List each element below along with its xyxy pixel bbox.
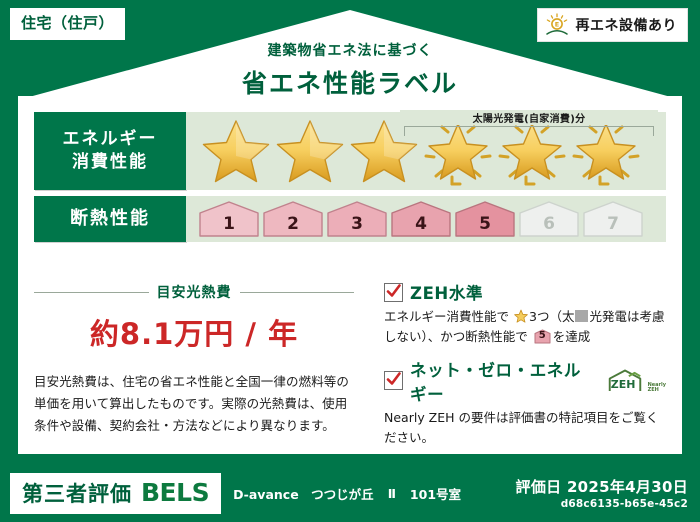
metrics-section: エネルギー 消費性能 xyxy=(34,112,666,248)
zeh-standard-body: エネルギー消費性能で 3つ（太光発電は考慮しない）、かつ断熱性能で 5 を達成 xyxy=(384,307,666,348)
evaluation-info: 評価日 2025年4月30日 d68c6135-b65e-45c2 xyxy=(516,476,688,510)
energy-performance-label: 住宅（住戸） E 再エネ設備あり 建築物省エネ法に基づく 省エネ性能ラベル xyxy=(0,0,700,522)
net-zero-energy-header: ネット・ゼロ・エネルギー ZEH Nearly ZEH xyxy=(384,357,666,405)
star-solar-icon xyxy=(496,116,568,186)
renewable-equipment-badge: E 再エネ設備あり xyxy=(537,8,689,42)
footer-bar: 第三者評価 BELS D-avance つつじが丘 Ⅱ 101号室 評価日 20… xyxy=(0,464,700,522)
checkbox-checked-icon xyxy=(384,371,403,390)
insulation-level-number: 4 xyxy=(390,214,452,234)
evaluation-id: d68c6135-b65e-45c2 xyxy=(516,498,688,510)
insulation-badge-number: 5 xyxy=(534,328,551,344)
zeh-body-part-star: 3つ（太 xyxy=(529,309,574,324)
insulation-level: 2 xyxy=(262,200,324,238)
star-icon xyxy=(348,116,420,186)
energy-performance-row: エネルギー 消費性能 xyxy=(34,112,666,190)
zeh-standard-title: ZEH水準 xyxy=(410,280,483,304)
zeh-logo-icon: ZEH Nearly ZEH xyxy=(604,368,666,393)
zeh-logo-subtext: Nearly ZEH xyxy=(648,383,666,394)
insulation-level-number: 6 xyxy=(518,214,580,234)
insulation-level: 4 xyxy=(390,200,452,238)
energy-performance-key: エネルギー 消費性能 xyxy=(34,112,186,190)
zeh-logo-sub2: ZEH xyxy=(648,387,659,393)
insulation-level-number: 1 xyxy=(198,214,260,234)
label-heading: 建築物省エネ法に基づく 省エネ性能ラベル xyxy=(0,40,700,100)
insulation-performance-row: 断熱性能 1 2 3 xyxy=(34,196,666,242)
cost-value: 約8.1万円 / 年 xyxy=(34,311,354,353)
net-zero-energy-title: ネット・ゼロ・エネルギー xyxy=(410,357,592,405)
insulation-level-number: 2 xyxy=(262,214,324,234)
redacted-character xyxy=(575,310,588,322)
insulation-performance-value: 1 2 3 4 xyxy=(186,196,666,242)
zeh-body-part-a: エネルギー消費性能で xyxy=(384,309,509,324)
zeh-standard-header: ZEH水準 xyxy=(384,280,666,304)
star-icon xyxy=(200,116,272,186)
insulation-level: 1 xyxy=(198,200,260,238)
property-phase: Ⅱ xyxy=(388,486,396,501)
net-zero-energy-item: ネット・ゼロ・エネルギー ZEH Nearly ZEH Nearly ZE xyxy=(384,357,666,449)
sun-icon: E xyxy=(544,13,570,37)
cost-heading: 目安光熱費 xyxy=(34,282,354,302)
evaluation-date: 評価日 2025年4月30日 xyxy=(516,476,688,497)
property-room: 101号室 xyxy=(410,484,461,503)
insulation-badge-inline: 5 xyxy=(534,329,551,344)
house-type-badge: 住宅（住戸） xyxy=(10,8,125,40)
lower-content: 目安光熱費 約8.1万円 / 年 目安光熱費は、住宅の省エネ性能と全国一律の燃料… xyxy=(34,280,666,457)
zeh-standard-item: ZEH水準 エネルギー消費性能で 3つ（太光発電は考慮しない）、かつ断熱性能で … xyxy=(384,280,666,348)
cost-title: 目安光熱費 xyxy=(157,282,232,302)
star-icon xyxy=(274,116,346,186)
cost-rule-left xyxy=(34,292,149,293)
bels-plate: 第三者評価 BELS xyxy=(10,473,221,514)
insulation-level-number: 5 xyxy=(454,214,516,234)
renewable-equipment-label: 再エネ設備あり xyxy=(576,15,678,35)
property-info: D-avance つつじが丘 Ⅱ 101号室 xyxy=(233,484,461,503)
insulation-level-number: 7 xyxy=(582,214,644,234)
heading-title: 省エネ性能ラベル xyxy=(0,64,700,100)
svg-text:ZEH: ZEH xyxy=(610,378,635,391)
energy-key-line1: エネルギー xyxy=(63,128,158,151)
cost-column: 目安光熱費 約8.1万円 / 年 目安光熱費は、住宅の省エネ性能と全国一律の燃料… xyxy=(34,280,370,457)
cost-rule-right xyxy=(240,292,355,293)
net-zero-energy-body: Nearly ZEH の要件は評価書の特記項目をご覧ください。 xyxy=(384,408,666,449)
insulation-scale: 1 2 3 4 xyxy=(186,200,644,238)
property-name: D-avance つつじが丘 xyxy=(233,484,374,503)
cost-note: 目安光熱費は、住宅の省エネ性能と全国一律の燃料等の単価を用いて算出したものです。… xyxy=(34,371,354,437)
bels-jp-label: 第三者評価 xyxy=(22,478,132,508)
energy-key-line2: 消費性能 xyxy=(72,151,148,174)
svg-text:E: E xyxy=(554,21,558,29)
bels-en-label: BELS xyxy=(141,478,209,507)
star-solar-icon xyxy=(422,116,494,186)
checkbox-checked-icon xyxy=(384,283,403,302)
zeh-body-part-c: を達成 xyxy=(553,329,591,344)
insulation-level: 3 xyxy=(326,200,388,238)
energy-performance-value: 太陽光発電(自家消費)分 xyxy=(186,112,666,190)
insulation-level-inactive: 7 xyxy=(582,200,644,238)
star-rating xyxy=(186,116,642,186)
insulation-level-number: 3 xyxy=(326,214,388,234)
heading-subtitle: 建築物省エネ法に基づく xyxy=(0,40,700,60)
house-type-label: 住宅（住戸） xyxy=(21,14,114,32)
insulation-level: 5 xyxy=(454,200,516,238)
insulation-level-inactive: 6 xyxy=(518,200,580,238)
star-icon-inline xyxy=(514,309,528,323)
insulation-performance-key: 断熱性能 xyxy=(34,196,186,242)
star-solar-icon xyxy=(570,116,642,186)
insulation-key-label: 断熱性能 xyxy=(70,210,150,228)
certification-column: ZEH水準 エネルギー消費性能で 3つ（太光発電は考慮しない）、かつ断熱性能で … xyxy=(370,280,666,457)
